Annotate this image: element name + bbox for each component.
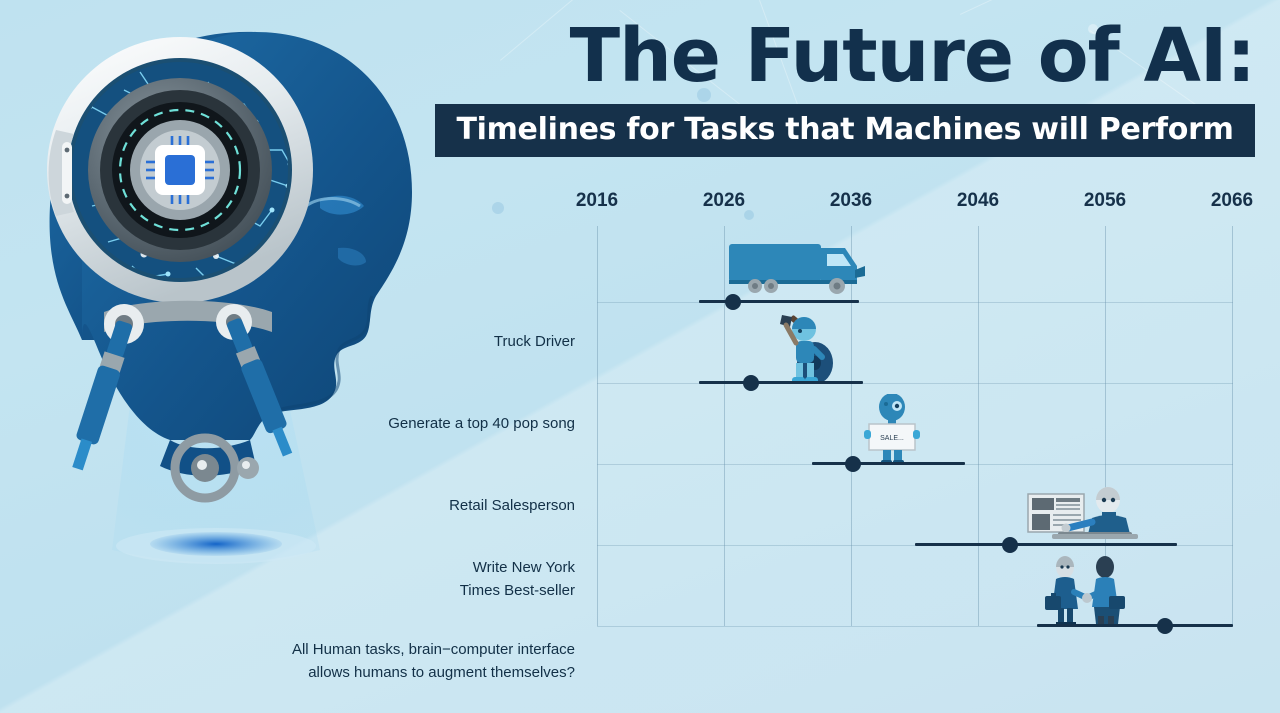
page-subtitle: Timelines for Tasks that Machines will P… (435, 104, 1255, 157)
sale-sign-robot-icon: SALE... (859, 394, 925, 471)
gridline-horizontal-1 (597, 302, 1233, 303)
range-bar-pop-song (699, 381, 863, 384)
marker-retail-salesperson[interactable] (845, 456, 861, 472)
marker-pop-song[interactable] (743, 375, 759, 391)
axis-tick-2056: 2056 (1084, 190, 1126, 212)
header: The Future of AI: Timelines for Tasks th… (435, 18, 1255, 157)
gridline-vertical-2066 (1232, 226, 1233, 626)
svg-text:SALE...: SALE... (880, 435, 904, 442)
gridline-vertical-2016 (597, 226, 598, 626)
axis-tick-2026: 2026 (703, 190, 745, 212)
marker-all-human-tasks[interactable] (1157, 618, 1173, 634)
gridline-horizontal-2 (597, 383, 1233, 384)
gridline-vertical-2046 (978, 226, 979, 626)
page-title: The Future of AI: (435, 18, 1255, 96)
axis-tick-2046: 2046 (957, 190, 999, 212)
semi-truck-icon (727, 236, 867, 309)
axis-tick-2066: 2066 (1211, 190, 1253, 212)
robot-human-handshake-icon (1037, 556, 1137, 633)
x-axis-year-labels: 2016 2026 2036 2046 2056 2066 (0, 190, 1280, 224)
gridline-vertical-2026 (724, 226, 725, 626)
row-label-retail-salesperson: Retail Salesperson (449, 494, 575, 517)
range-bar-retail-salesperson (812, 462, 965, 465)
marker-truck-driver[interactable] (725, 294, 741, 310)
range-bar-all-human-tasks (1037, 624, 1233, 627)
range-bar-truck-driver (699, 300, 859, 303)
row-label-truck-driver: Truck Driver (494, 330, 575, 353)
axis-tick-2036: 2036 (830, 190, 872, 212)
footer: www.dls.ltd DLS Deep Learn Strategies @d… (0, 638, 1280, 713)
marker-bestseller[interactable] (1002, 537, 1018, 553)
plot-area: SALE... (597, 226, 1233, 626)
row-label-pop-song: Generate a top 40 pop song (388, 412, 575, 435)
axis-tick-2016: 2016 (576, 190, 618, 212)
timeline-chart: 2016 2026 2036 2046 2056 2066 Truck Driv… (0, 190, 1280, 640)
row-label-column: Truck Driver Generate a top 40 pop song … (0, 226, 575, 626)
range-bar-bestseller (915, 543, 1177, 546)
row-label-bestseller: Write New York Times Best-seller (460, 556, 575, 603)
